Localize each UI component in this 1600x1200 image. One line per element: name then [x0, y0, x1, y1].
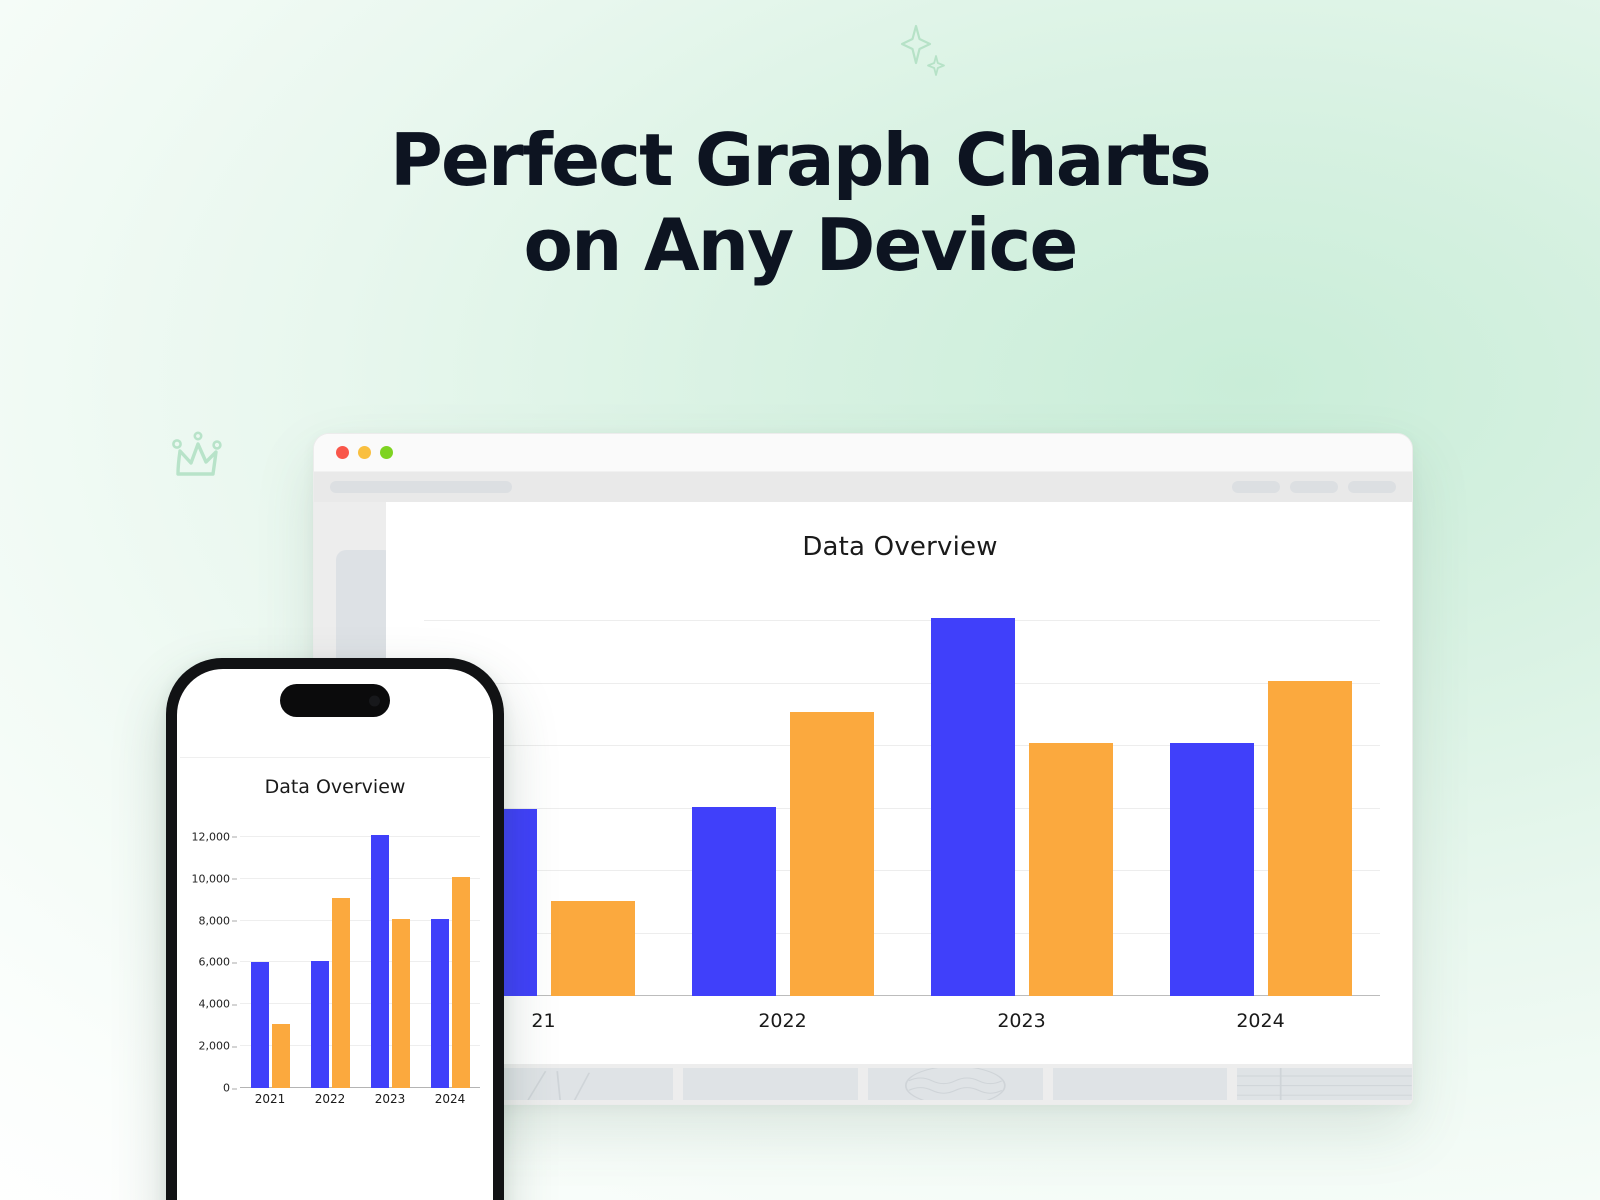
phone-bar-orange-2023[interactable]: [392, 919, 410, 1088]
address-bar[interactable]: [330, 481, 512, 493]
desktop-bar-blue-2024[interactable]: [1170, 743, 1254, 996]
browser-toolbar: [314, 472, 1412, 502]
toolbar-button-2[interactable]: [1290, 481, 1338, 493]
phone-plot-area: [240, 816, 480, 1088]
headline-line-1: Perfect Graph Charts: [0, 118, 1600, 203]
footer-block: [1053, 1068, 1228, 1100]
desktop-bar-group: [1141, 590, 1380, 996]
phone-bar-chart: 12,00010,0008,0006,0004,0002,0000: [180, 816, 480, 1088]
phone-bar-group: [300, 816, 360, 1088]
phone-chart-title: Data Overview: [180, 776, 490, 798]
desktop-bar-orange-2024[interactable]: [1268, 681, 1352, 996]
footer-block: [683, 1068, 858, 1100]
desktop-bar-blue-2022[interactable]: [692, 807, 776, 996]
phone-bar-group: [360, 816, 420, 1088]
page-title: Perfect Graph Charts on Any Device: [0, 118, 1600, 288]
page-root: Perfect Graph Charts on Any Device: [0, 0, 1600, 1200]
phone-bar-group: [420, 816, 480, 1088]
phone-bar-orange-2021[interactable]: [272, 1024, 290, 1088]
phone-y-tick: 0: [223, 1082, 230, 1095]
maximize-dot[interactable]: [380, 446, 393, 459]
phone-screen: Data Overview 12,00010,0008,0006,0004,00…: [177, 669, 493, 1200]
phone-bar-blue-2023[interactable]: [371, 835, 389, 1088]
phone-x-label: 2022: [300, 1092, 360, 1106]
desktop-x-axis-labels: 21202220232024: [424, 1010, 1380, 1032]
front-camera-icon: [369, 695, 380, 706]
toolbar-button-1[interactable]: [1232, 481, 1280, 493]
desktop-bar-orange-2023[interactable]: [1029, 743, 1113, 996]
desktop-bar-orange-2021[interactable]: [551, 901, 635, 996]
phone-y-tick: 4,000: [199, 998, 231, 1011]
phone-y-tick: 2,000: [199, 1040, 231, 1053]
browser-titlebar: [314, 434, 1412, 472]
desktop-x-label: 2024: [1141, 1010, 1380, 1032]
phone-bar-blue-2024[interactable]: [431, 919, 449, 1088]
sparkle-icon: [886, 18, 956, 88]
desktop-bar-group: [902, 590, 1141, 996]
phone-y-tick: 10,000: [192, 872, 231, 885]
phone-mockup: Data Overview 12,00010,0008,0006,0004,00…: [166, 658, 504, 1200]
phone-bar-blue-2021[interactable]: [251, 962, 269, 1088]
phone-bar-blue-2022[interactable]: [311, 961, 329, 1088]
footer-block: [1237, 1068, 1412, 1100]
crown-sparkle-icon: [158, 418, 234, 494]
phone-bar-orange-2024[interactable]: [452, 877, 470, 1088]
desktop-x-label: 2022: [663, 1010, 902, 1032]
phone-y-tick: 6,000: [199, 956, 231, 969]
phone-x-label: 2021: [240, 1092, 300, 1106]
desktop-bar-blue-2023[interactable]: [931, 618, 1015, 996]
close-dot[interactable]: [336, 446, 349, 459]
phone-y-tick: 8,000: [199, 914, 231, 927]
phone-y-tick: 12,000: [192, 830, 231, 843]
phone-bar-group: [240, 816, 300, 1088]
desktop-x-label: 2023: [902, 1010, 1141, 1032]
phone-bar-groups: [240, 816, 480, 1088]
headline-line-2: on Any Device: [0, 203, 1600, 288]
chart-card-desktop: Data Overview 21202220232024: [386, 502, 1412, 1064]
desktop-bar-chart: Data Overview 21202220232024: [386, 502, 1412, 1064]
desktop-chart-title: Data Overview: [386, 532, 1412, 562]
chart-card-phone: Data Overview 12,00010,0008,0006,0004,00…: [180, 757, 490, 1200]
phone-x-label: 2024: [420, 1092, 480, 1106]
desktop-bar-group: [663, 590, 902, 996]
phone-y-axis: 12,00010,0008,0006,0004,0002,0000: [180, 816, 238, 1088]
toolbar-button-3[interactable]: [1348, 481, 1396, 493]
footer-block: [868, 1068, 1043, 1100]
desktop-bar-groups: [424, 590, 1380, 996]
dynamic-island: [280, 684, 390, 717]
minimize-dot[interactable]: [358, 446, 371, 459]
footer-block: [499, 1068, 674, 1100]
phone-bar-orange-2022[interactable]: [332, 898, 350, 1088]
phone-x-label: 2023: [360, 1092, 420, 1106]
desktop-plot-area: [424, 590, 1380, 996]
phone-x-axis-labels: 2021202220232024: [240, 1092, 480, 1106]
desktop-bar-orange-2022[interactable]: [790, 712, 874, 996]
